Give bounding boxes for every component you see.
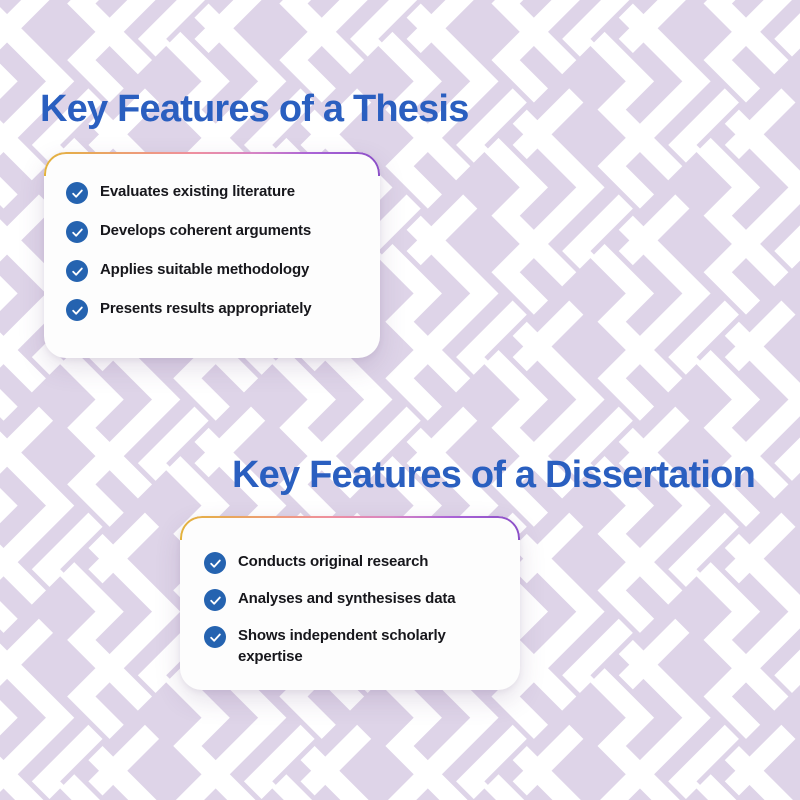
page-content: Key Features of a Thesis Evaluates exist… — [0, 0, 800, 800]
list-item-label: Presents results appropriately — [100, 299, 311, 320]
check-circle-icon — [66, 299, 88, 321]
dissertation-feature-list: Conducts original research Analyses and … — [180, 516, 520, 690]
page-title-thesis: Key Features of a Thesis — [40, 88, 469, 131]
list-item: Conducts original research — [204, 552, 498, 574]
list-item: Presents results appropriately — [66, 299, 358, 321]
check-circle-icon — [66, 182, 88, 204]
list-item-label: Applies suitable methodology — [100, 260, 309, 281]
page-title-dissertation: Key Features of a Dissertation — [232, 454, 755, 497]
thesis-feature-list: Evaluates existing literature Develops c… — [44, 152, 380, 347]
check-circle-icon — [66, 260, 88, 282]
list-item-label: Develops coherent arguments — [100, 221, 311, 242]
list-item-label: Analyses and synthesises data — [238, 589, 455, 610]
list-item-label: Conducts original research — [238, 552, 428, 573]
check-circle-icon — [204, 626, 226, 648]
check-circle-icon — [204, 589, 226, 611]
list-item: Applies suitable methodology — [66, 260, 358, 282]
list-item-label: Shows independent scholarly expertise — [238, 626, 498, 667]
thesis-feature-card: Evaluates existing literature Develops c… — [44, 152, 380, 358]
list-item: Develops coherent arguments — [66, 221, 358, 243]
check-circle-icon — [66, 221, 88, 243]
check-circle-icon — [204, 552, 226, 574]
list-item-label: Evaluates existing literature — [100, 182, 295, 203]
dissertation-feature-card: Conducts original research Analyses and … — [180, 516, 520, 690]
list-item: Analyses and synthesises data — [204, 589, 498, 611]
list-item: Shows independent scholarly expertise — [204, 626, 498, 667]
list-item: Evaluates existing literature — [66, 182, 358, 204]
